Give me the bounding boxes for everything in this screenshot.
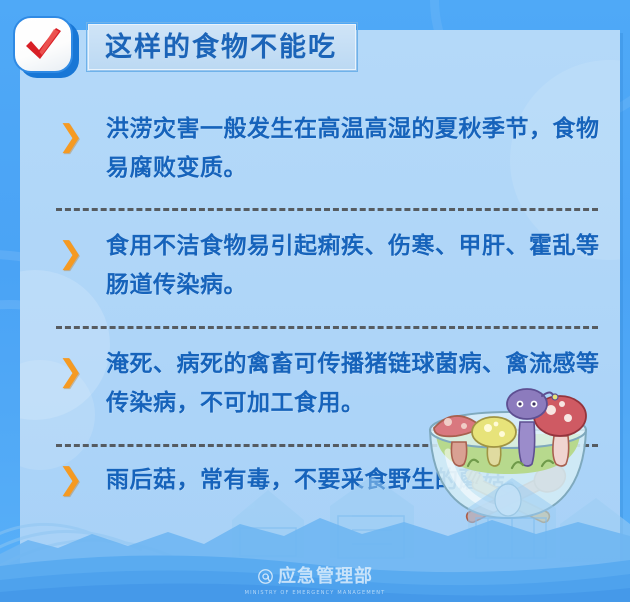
- footer-logo-row: 应急管理部: [257, 568, 373, 586]
- footer-org-subtitle: MINISTRY OF EMERGENCY MANAGEMENT: [0, 590, 630, 596]
- chevron-bullet-icon: ❯: [58, 239, 84, 269]
- list-item-text: 食用不洁食物易引起痢疾、伤寒、甲肝、霍乱等肠道传染病。: [106, 227, 606, 305]
- chevron-bullet-icon: ❯: [58, 465, 84, 495]
- list-item-text: 洪涝灾害一般发生在高温高湿的夏秋季节，食物易腐败变质。: [106, 110, 606, 188]
- chevron-bullet-icon: ❯: [58, 357, 84, 387]
- weibo-at-icon: [257, 568, 274, 585]
- red-check-badge-icon: [13, 16, 79, 78]
- footer-org-name: 应急管理部: [278, 568, 373, 586]
- list-item: ❯ 食用不洁食物易引起痢疾、伤寒、甲肝、霍乱等肠道传染病。: [20, 211, 620, 305]
- chevron-bullet-icon: ❯: [58, 122, 84, 152]
- bowl-of-wild-mushrooms-illustration: [408, 382, 608, 542]
- title-bar: 这样的食物不能吃: [88, 24, 356, 70]
- list-item: ❯ 洪涝灾害一般发生在高温高湿的夏秋季节，食物易腐败变质。: [20, 92, 620, 188]
- page-title: 这样的食物不能吃: [105, 34, 337, 61]
- poster-header: 这样的食物不能吃: [0, 0, 630, 92]
- footer-watermark: 应急管理部 MINISTRY OF EMERGENCY MANAGEMENT: [0, 568, 630, 597]
- infographic-poster: 这样的食物不能吃 ❯ 洪涝灾害一般发生在高温高湿的夏秋季节，食物易腐败变质。 ❯…: [0, 0, 630, 602]
- check-mark-icon: [20, 22, 66, 66]
